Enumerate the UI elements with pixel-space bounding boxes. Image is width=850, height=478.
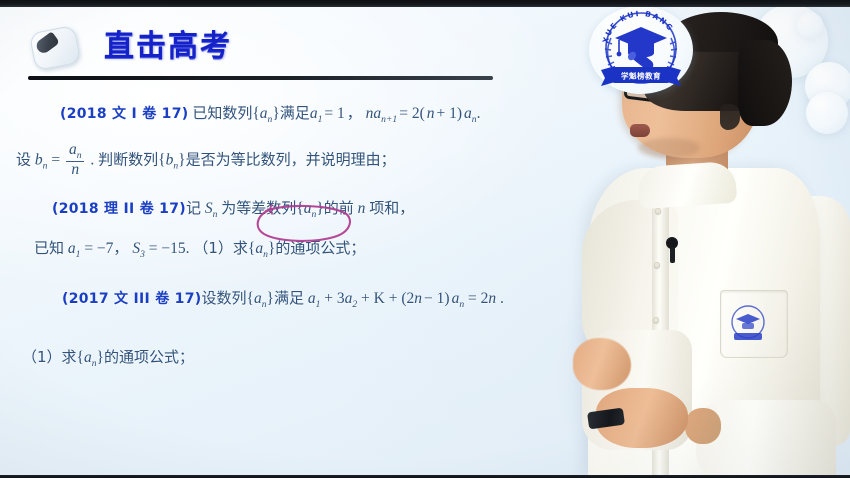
line5-minus: − 1): [422, 290, 452, 307]
line2-b-sub: n: [43, 161, 48, 172]
line2-eq: =: [51, 152, 60, 169]
line3-set-a: a: [304, 200, 312, 217]
line1-na-sub: n+1: [381, 114, 397, 125]
lecture-video-frame: 直击高考 (2018 文 I 卷 17) 已知数列{an}满足a1= 1， na…: [0, 0, 850, 478]
line1-na: na: [366, 105, 382, 122]
title-divider: [28, 76, 493, 80]
line4-eq2: = −15: [149, 240, 186, 257]
line2-text-2: 是否为等比数列，并说明理由；: [186, 151, 396, 169]
line4-a: a: [68, 240, 76, 257]
line4-a-sub: 1: [76, 249, 81, 260]
line2-set-open: {: [158, 152, 165, 169]
fraction-num-a: a: [69, 141, 77, 158]
exam-tag: (2018 理 II 卷 17): [52, 201, 186, 217]
line6-set-close: }: [97, 349, 104, 366]
line5-she: 设数列: [201, 289, 246, 307]
line5-manzu: 满足: [274, 289, 304, 307]
line5-plusK: + K +: [361, 290, 397, 307]
line5-a2-sub: 2: [352, 300, 357, 311]
mouth: [630, 124, 650, 137]
line3-ji: 记: [186, 199, 201, 217]
chin-shadow: [638, 138, 700, 158]
line2-set-close: }: [178, 152, 185, 169]
exam-tag: (2018 文 I 卷 17): [60, 106, 188, 122]
mandarin-collar: [637, 161, 738, 210]
line1-eq2-plus: + 1): [434, 105, 464, 122]
shirt-button: [654, 262, 660, 268]
line1-eq1: = 1: [322, 105, 346, 122]
page-title: 直击高考: [104, 21, 232, 65]
line1-eq2-open: = 2(: [397, 105, 427, 122]
shirt-button: [653, 317, 659, 323]
line1-text-1: 已知数列: [192, 104, 252, 122]
eraser-body: [29, 25, 81, 71]
line5-a1: a: [308, 290, 316, 307]
line4-tail: 的通项公式；: [275, 239, 365, 257]
shirt-button: [655, 208, 661, 214]
hair-back: [738, 40, 792, 126]
line6-set-a: a: [84, 349, 92, 366]
line5-n1: n: [414, 290, 422, 307]
line6-tail: 的通项公式；: [104, 348, 194, 366]
line1-a: a: [310, 105, 318, 122]
line3-de-qian: 的前: [324, 199, 354, 217]
line3-circled-term: 等差数列: [236, 199, 296, 217]
line5-plus1: + 3: [324, 290, 344, 307]
line5-paren: (2: [401, 290, 414, 307]
fraction-num-sub: n: [77, 150, 82, 161]
line3-S: S: [205, 200, 213, 217]
line3-S-sub: n: [213, 209, 218, 220]
line2-she: 设: [16, 151, 31, 169]
line6-set-open: {: [77, 349, 84, 366]
line2-b: b: [35, 152, 43, 169]
line4-comma: ，: [113, 239, 128, 257]
right-forearm-sleeve: [696, 400, 836, 478]
line4-dot: .: [186, 240, 190, 257]
eraser-icon: [28, 23, 80, 67]
line3-n: n: [358, 200, 366, 217]
exam-tag: (2017 文 III 卷 17): [62, 291, 201, 307]
line3-wei: 为: [221, 199, 236, 217]
line4-question: （1）求: [193, 239, 248, 257]
fraction-an-over-n: an n: [66, 142, 85, 178]
line3-set-close: }: [316, 200, 323, 217]
fraction-denominator: n: [66, 161, 85, 178]
lapel-mic-stem: [670, 247, 675, 263]
line1-set-close: }: [272, 105, 279, 122]
line4-eq1: = −7: [84, 240, 113, 257]
line5-an-sub: n: [459, 300, 464, 311]
line2-dot: .: [90, 152, 94, 169]
fraction-numerator: an: [66, 142, 85, 161]
line4-set-a: a: [255, 240, 263, 257]
line5-set-open: {: [246, 290, 253, 307]
ribbon-banner-icon: 学魁榜教育: [601, 66, 681, 86]
brand-logo-badge: XUE KUI BANG 学魁榜教育: [589, 6, 693, 94]
line1-set-open: {: [252, 105, 259, 122]
eraser-felt: [34, 31, 60, 55]
left-hand: [573, 338, 631, 390]
line1-text-2: 满足: [280, 104, 310, 122]
badge-ribbon-text: 学魁榜教育: [621, 71, 661, 81]
line5-a1-sub: 1: [316, 300, 321, 311]
line3-tail: 项和，: [369, 199, 414, 217]
line4-S-sub: 3: [140, 249, 145, 260]
video-letterbox-top: [0, 0, 850, 7]
slide-header: 直击高考: [0, 7, 520, 79]
line1-set-a: a: [260, 105, 268, 122]
line1-comma: ，: [347, 104, 362, 122]
line5-set-close: }: [266, 290, 273, 307]
badge-artwork: XUE KUI BANG 学魁榜教育: [595, 8, 687, 92]
shirt-pocket-logo-icon: [726, 304, 770, 344]
line6-question: （1）求: [22, 348, 77, 366]
line4-S: S: [132, 240, 140, 257]
line4-yizhi: 已知: [34, 239, 64, 257]
line2-text-1: 判断数列: [98, 151, 158, 169]
line5-set-a: a: [254, 290, 262, 307]
right-wrist: [685, 408, 721, 444]
line3-set-open: {: [296, 200, 303, 217]
